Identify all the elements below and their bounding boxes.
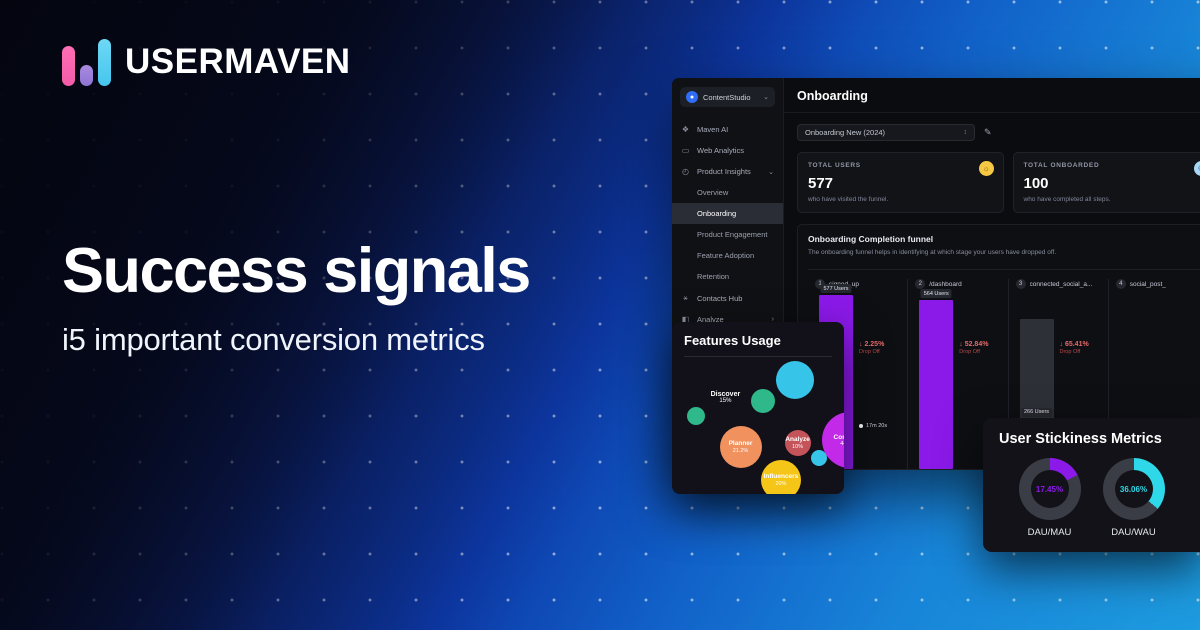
sidebar-item-label: Web Analytics [697,146,744,155]
donut-chart: 36.06% [1103,458,1165,520]
step-number: 4 [1116,279,1126,289]
sparkle-icon: ❖ [681,125,690,134]
feature-bubble[interactable] [687,407,705,425]
funnel-select-value: Onboarding New (2024) [805,128,885,137]
workspace-name: ContentStudio [703,93,758,102]
sidebar-item-onboarding[interactable]: Onboarding [672,203,783,224]
brand-name: USERMAVEN [125,42,351,82]
funnel-bar-value: 577 Users [820,284,851,293]
features-usage-title: Features Usage [684,333,832,348]
sidebar-item-product-insights[interactable]: ◴Product Insights⌄ [672,161,783,182]
feature-bubble[interactable] [776,361,814,399]
drop-off-value: ↓ 2.25% [859,341,884,348]
funnel-title: Onboarding Completion funnel [808,234,1200,244]
drop-off-label: Drop Off [859,349,884,355]
donut-center: 36.06% [1115,470,1153,508]
funnel-bar-value: 564 Users [921,289,952,298]
stickiness-title: User Stickiness Metrics [999,431,1184,447]
feature-bubble[interactable]: Analyze10% [785,430,811,456]
chevron-down-icon: ⌄ [763,93,769,101]
logo-bar-pink [62,46,75,86]
dashboard-main: Onboarding Onboarding New (2024) ↕ ✎ TOT… [784,78,1200,470]
sidebar-item-label: Product Insights [697,167,751,176]
gauge-caption: DAU/WAU [1103,527,1165,538]
logo-bar-purple [80,65,93,86]
bubble-name: Analyze [785,436,810,443]
sidebar-item-web-analytics[interactable]: ▭Web Analytics [672,140,783,161]
gauge-caption: DAU/MAU [1019,527,1081,538]
step-number: 2 [915,279,925,289]
gauge-value: 17.45% [1036,485,1063,494]
feature-bubble[interactable] [811,450,827,466]
sidebar-item-label: Retention [697,272,729,281]
page-title: Success signals [62,238,530,304]
bubble-name: Composer [834,434,844,441]
sidebar-item-product-engagement[interactable]: Product Engagement [672,224,783,245]
workspace-avatar-icon: ● [686,91,698,103]
chevron-icon: ⌄ [768,168,774,176]
bubble-name: Planner [729,440,753,447]
stat-value: 577 [808,175,993,192]
users-badge-icon: ☼ [979,161,994,176]
time-marker: 17m 20s [859,423,887,429]
stat-card: TOTAL ONBOARDED100who have completed all… [1013,152,1200,213]
feature-bubble[interactable]: Influencers20% [761,460,801,494]
funnel-bar[interactable]: 564 Users [919,300,953,469]
dot-icon [859,424,863,428]
section-title: Onboarding [797,89,1200,103]
sidebar-item-contacts-hub[interactable]: ⚹Contacts Hub [672,287,783,309]
funnel-select-row: Onboarding New (2024) ↕ ✎ [797,124,1200,141]
drop-off-annotation: ↓ 65.41%Drop Off [1060,341,1089,355]
feature-bubble[interactable] [751,389,775,413]
logo-bar-cyan [98,39,111,86]
stepper-icon[interactable]: ↕ [964,130,968,136]
stat-card: TOTAL USERS577who have visited the funne… [797,152,1004,213]
step-name: connected_social_a... [1030,281,1093,288]
bubble-chart: Composer44.14%Planner21.2%Influencers20%… [684,357,832,483]
hero-text-block: Success signals i5 important conversion … [62,238,530,358]
drop-off-label: Drop Off [1060,349,1089,355]
bubble-value: 20% [775,481,786,487]
stat-cards: TOTAL USERS577who have visited the funne… [797,152,1200,213]
stickiness-gauge: 36.06%DAU/WAU [1103,458,1165,538]
window-icon: ▭ [681,146,690,155]
user-stickiness-panel: User Stickiness Metrics 17.45%DAU/MAU36.… [983,418,1200,552]
sidebar-item-label: Product Engagement [697,230,767,239]
stat-value: 100 [1024,175,1200,192]
sidebar-item-label: Contacts Hub [697,294,742,303]
funnel-step-header: 3connected_social_a... [1016,279,1108,289]
drop-off-label: Drop Off [959,349,988,355]
drop-off-value: ↓ 65.41% [1060,341,1089,348]
step-number: 3 [1016,279,1026,289]
funnel-description: The onboarding funnel helps in identifyi… [808,249,1200,256]
funnel-bar-value: 266 Users [1021,408,1052,417]
sidebar-item-label: Feature Adoption [697,251,754,260]
features-usage-panel: Features Usage Composer44.14%Planner21.2… [672,322,844,494]
stat-sublabel: who have visited the funnel. [808,196,993,203]
stat-label: TOTAL ONBOARDED [1024,162,1200,169]
sidebar-item-feature-adoption[interactable]: Feature Adoption [672,245,783,266]
bubble-value: 21.2% [733,448,749,454]
drop-off-annotation: ↓ 2.25%Drop Off [859,341,884,355]
bubble-external-label: Discover15% [711,391,741,404]
bubble-name: Discover [711,391,741,398]
stat-label: TOTAL USERS [808,162,993,169]
clock-icon: ◴ [681,167,690,176]
sidebar-nav: ❖Maven AI▭Web Analytics◴Product Insights… [672,119,783,330]
main-header: Onboarding [784,78,1200,113]
stickiness-gauge: 17.45%DAU/MAU [1019,458,1081,538]
pencil-square-icon[interactable]: ✎ [984,127,992,138]
funnel-step-header: 4social_post_ [1116,279,1200,289]
workspace-switcher[interactable]: ● ContentStudio ⌄ [680,87,775,107]
sidebar-item-label: Onboarding [697,209,736,218]
sidebar-item-label: Overview [697,188,728,197]
drop-off-value: ↓ 52.84% [959,341,988,348]
bubble-name: Influencers [764,473,799,480]
sidebar-item-overview[interactable]: Overview [672,182,783,203]
gauge-value: 36.06% [1120,485,1147,494]
drop-off-annotation: ↓ 52.84%Drop Off [959,341,988,355]
bubble-value: 44.14% [840,441,844,447]
step-name: social_post_ [1130,281,1166,288]
usermaven-logo: USERMAVEN [62,38,351,86]
completed-badge-icon: ⚇ [1194,161,1200,176]
bubble-value: 10% [792,444,803,450]
step-name: /dashboard [929,281,962,288]
sidebar-item-label: Maven AI [697,125,728,134]
donut-center: 17.45% [1031,470,1069,508]
funnel-select[interactable]: Onboarding New (2024) ↕ [797,124,975,141]
donut-chart: 17.45% [1019,458,1081,520]
funnel-step-header: 2/dashboard [915,279,1007,289]
person-icon: ⚹ [681,293,690,303]
sidebar-item-maven-ai[interactable]: ❖Maven AI [672,119,783,140]
logo-bars-icon [62,38,111,86]
stat-sublabel: who have completed all steps. [1024,196,1200,203]
feature-bubble[interactable]: Planner21.2% [720,426,762,468]
page-subtitle: i5 important conversion metrics [62,322,530,358]
time-marker-value: 17m 20s [866,423,887,429]
stickiness-gauges: 17.45%DAU/MAU36.06%DAU/WAU [999,458,1184,538]
sidebar-item-retention[interactable]: Retention [672,266,783,287]
bubble-value: 15% [711,398,741,404]
